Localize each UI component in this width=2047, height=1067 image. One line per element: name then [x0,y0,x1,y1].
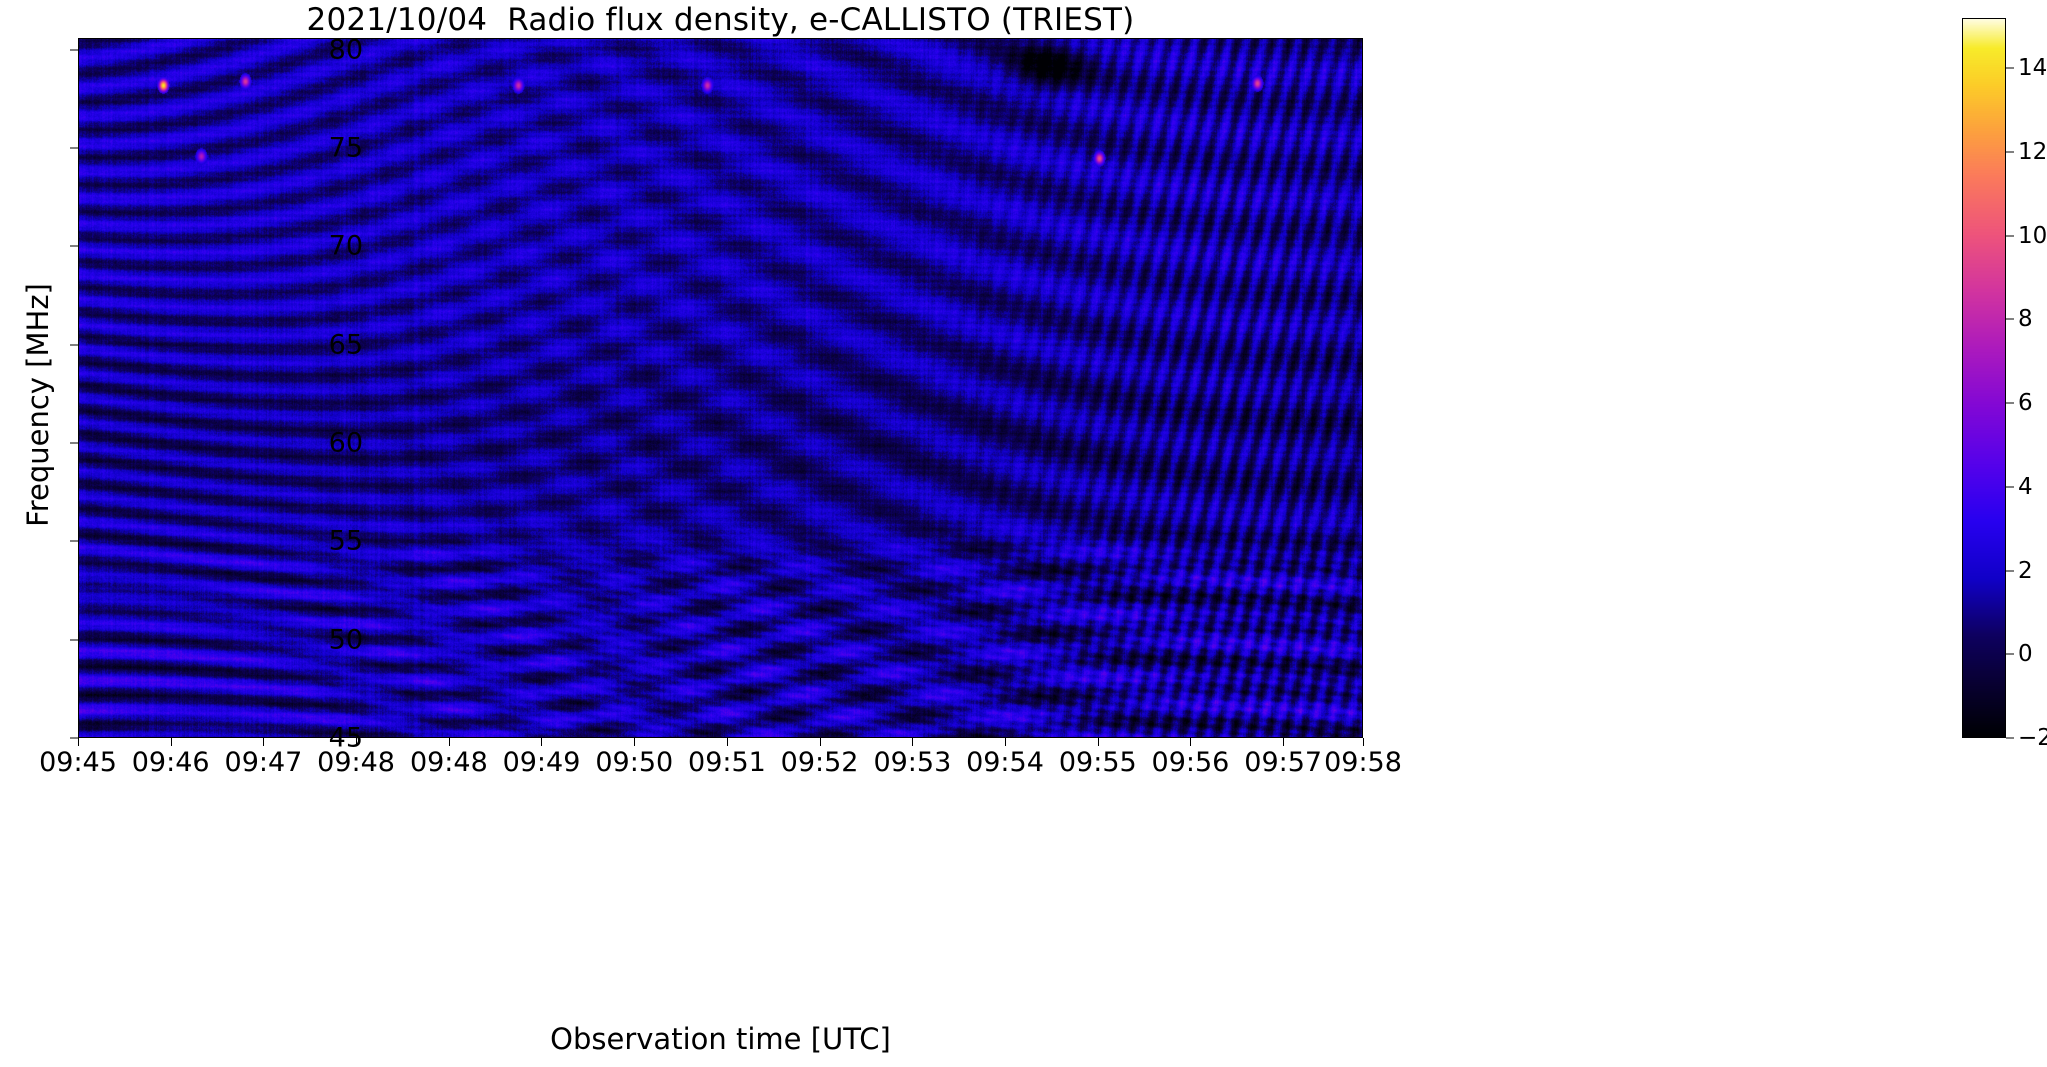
x-tick-mark [171,738,172,746]
chart-title: 2021/10/04 Radio flux density, e-CALLIST… [78,2,1363,38]
colorbar-tick-label: −2 [2018,725,2047,751]
x-tick-label: 09:49 [503,747,581,778]
x-tick-label: 09:47 [225,747,303,778]
y-tick-mark [70,639,78,640]
x-tick-mark [1190,738,1191,746]
colorbar-tick-label: 0 [2018,641,2033,667]
colorbar-tick-label: 14 [2018,55,2047,81]
x-tick-mark [356,738,357,746]
y-tick-label: 50 [329,624,363,655]
x-tick-label: 09:52 [781,747,859,778]
colorbar-tick-label: 6 [2018,390,2033,416]
colorbar-tick-mark [2006,738,2014,739]
y-tick-label: 55 [329,526,363,557]
y-tick-label: 65 [329,329,363,360]
colorbar-tick-label: 8 [2018,306,2033,332]
y-tick-mark [70,148,78,149]
x-tick-mark [78,738,79,746]
colorbar-tick-mark [2006,486,2014,487]
colorbar-tick-label: 10 [2018,223,2047,249]
y-tick-mark [70,738,78,739]
colorbar-tick-mark [2006,235,2014,236]
x-tick-label: 09:55 [1059,747,1137,778]
x-tick-mark [912,738,913,746]
y-tick-label: 70 [329,231,363,262]
y-tick-label: 80 [329,34,363,65]
colorbar-tick-label: 2 [2018,558,2033,584]
x-tick-label: 09:50 [595,747,673,778]
colorbar-gradient [1963,19,2005,737]
x-tick-mark [634,738,635,746]
colorbar-tick-mark [2006,654,2014,655]
spectrogram-image [78,38,1363,738]
colorbar-tick-mark [2006,319,2014,320]
colorbar-tick-mark [2006,570,2014,571]
x-tick-mark [820,738,821,746]
y-tick-label: 75 [329,133,363,164]
x-tick-mark [1098,738,1099,746]
colorbar-tick-label: 12 [2018,139,2047,165]
y-tick-label: 60 [329,428,363,459]
colorbar [1962,18,2006,738]
x-tick-label: 09:58 [1324,747,1402,778]
figure-canvas: 2021/10/04 Radio flux density, e-CALLIST… [0,0,2047,1067]
y-tick-mark [70,541,78,542]
colorbar-tick-label: 4 [2018,474,2033,500]
x-tick-label: 09:46 [132,747,210,778]
x-axis-label: Observation time [UTC] [78,1022,1363,1056]
x-tick-mark [541,738,542,746]
y-tick-mark [70,443,78,444]
x-tick-mark [727,738,728,746]
colorbar-tick-mark [2006,68,2014,69]
x-tick-label: 09:51 [688,747,766,778]
colorbar-tick-mark [2006,151,2014,152]
y-tick-mark [70,49,78,50]
x-tick-mark [263,738,264,746]
x-tick-mark [449,738,450,746]
x-tick-label: 09:48 [410,747,488,778]
x-tick-label: 09:57 [1244,747,1322,778]
x-tick-mark [1363,738,1364,746]
x-tick-mark [1283,738,1284,746]
spectrogram-axes [78,38,1363,738]
x-tick-label: 09:53 [873,747,951,778]
x-tick-mark [1005,738,1006,746]
colorbar-tick-mark [2006,403,2014,404]
x-tick-label: 09:54 [966,747,1044,778]
x-tick-label: 09:48 [317,747,395,778]
y-axis-label: Frequency [MHz] [21,55,55,755]
y-tick-mark [70,344,78,345]
y-tick-mark [70,246,78,247]
x-tick-label: 09:56 [1152,747,1230,778]
